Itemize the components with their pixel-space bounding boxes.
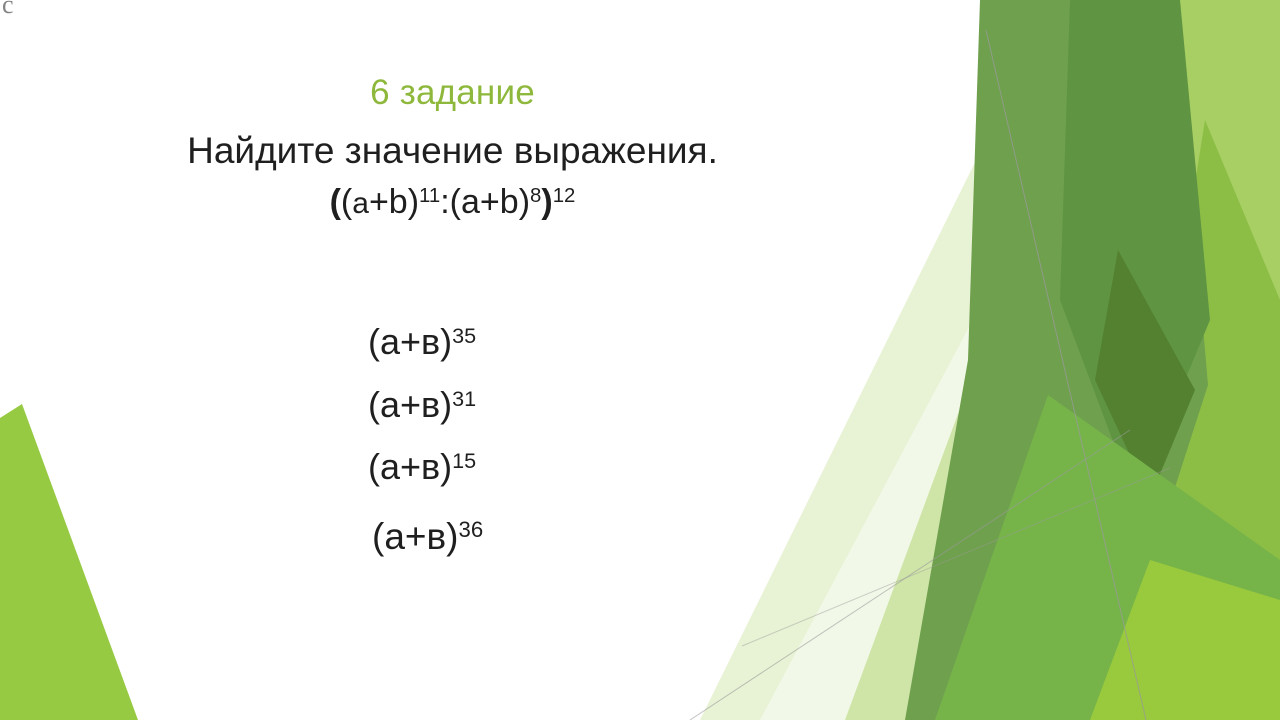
formula-close-outer-paren: ) [541,183,552,221]
answer-option[interactable]: (а+в)15 [368,445,476,489]
expression-formula: ((a+b)11:(a+b)8)12 [0,181,905,225]
formula-open-inner-paren-2: ( [450,183,461,221]
slide-canvas: c 6 задание Найдите значение выражения. … [0,0,1280,720]
formula-exponent-second: 8 [530,185,541,207]
answer-option[interactable]: (а+в)35 [368,320,476,364]
decor-shape-lower-sweep [935,395,1280,720]
formula-close-inner-paren: ) [408,183,419,221]
formula-exponent-outer: 12 [553,185,576,207]
task-number-title: 6 задание [0,73,905,113]
answer-option-base: (а+в) [372,516,458,557]
formula-base-a: a [352,187,369,220]
formula-plus-2: + [480,183,500,221]
answer-option-base: (а+в) [368,384,452,425]
decor-hairline-upper [986,30,1146,720]
decor-shape-core-dark [1095,250,1195,498]
answer-option-base: (а+в) [368,321,452,362]
formula-close-inner-paren-2: ) [519,183,530,221]
answer-option[interactable]: (а+в)36 [372,515,483,559]
answer-option-exponent: 36 [458,517,483,542]
formula-base-b-2: b [500,183,519,221]
formula-base-a-2: a [461,183,480,221]
answer-option-exponent: 15 [452,448,476,473]
formula-base-b: b [389,183,408,221]
formula-division-colon: : [440,183,449,221]
formula-exponent-first: 11 [419,185,440,207]
formula-open-inner-paren: ( [341,183,352,221]
answer-option-exponent: 31 [452,386,476,411]
question-prompt: Найдите значение выражения. [0,129,905,173]
decor-shape-light-shard [905,0,1280,720]
slide-content: 6 задание Найдите значение выражения. ((… [0,0,905,720]
decor-shape-olive-shard [1110,120,1280,720]
formula-open-outer-paren: ( [330,183,341,221]
answer-option-base: (а+в) [368,446,452,487]
decor-shape-mid-band [905,0,1208,720]
answer-option-exponent: 35 [452,323,476,348]
answer-option[interactable]: (а+в)31 [368,383,476,427]
decor-shape-lower-tip [1090,560,1280,720]
decor-shape-dark-band [1060,0,1210,500]
decor-shape-right-bright [1060,0,1280,720]
formula-plus: + [369,183,389,221]
